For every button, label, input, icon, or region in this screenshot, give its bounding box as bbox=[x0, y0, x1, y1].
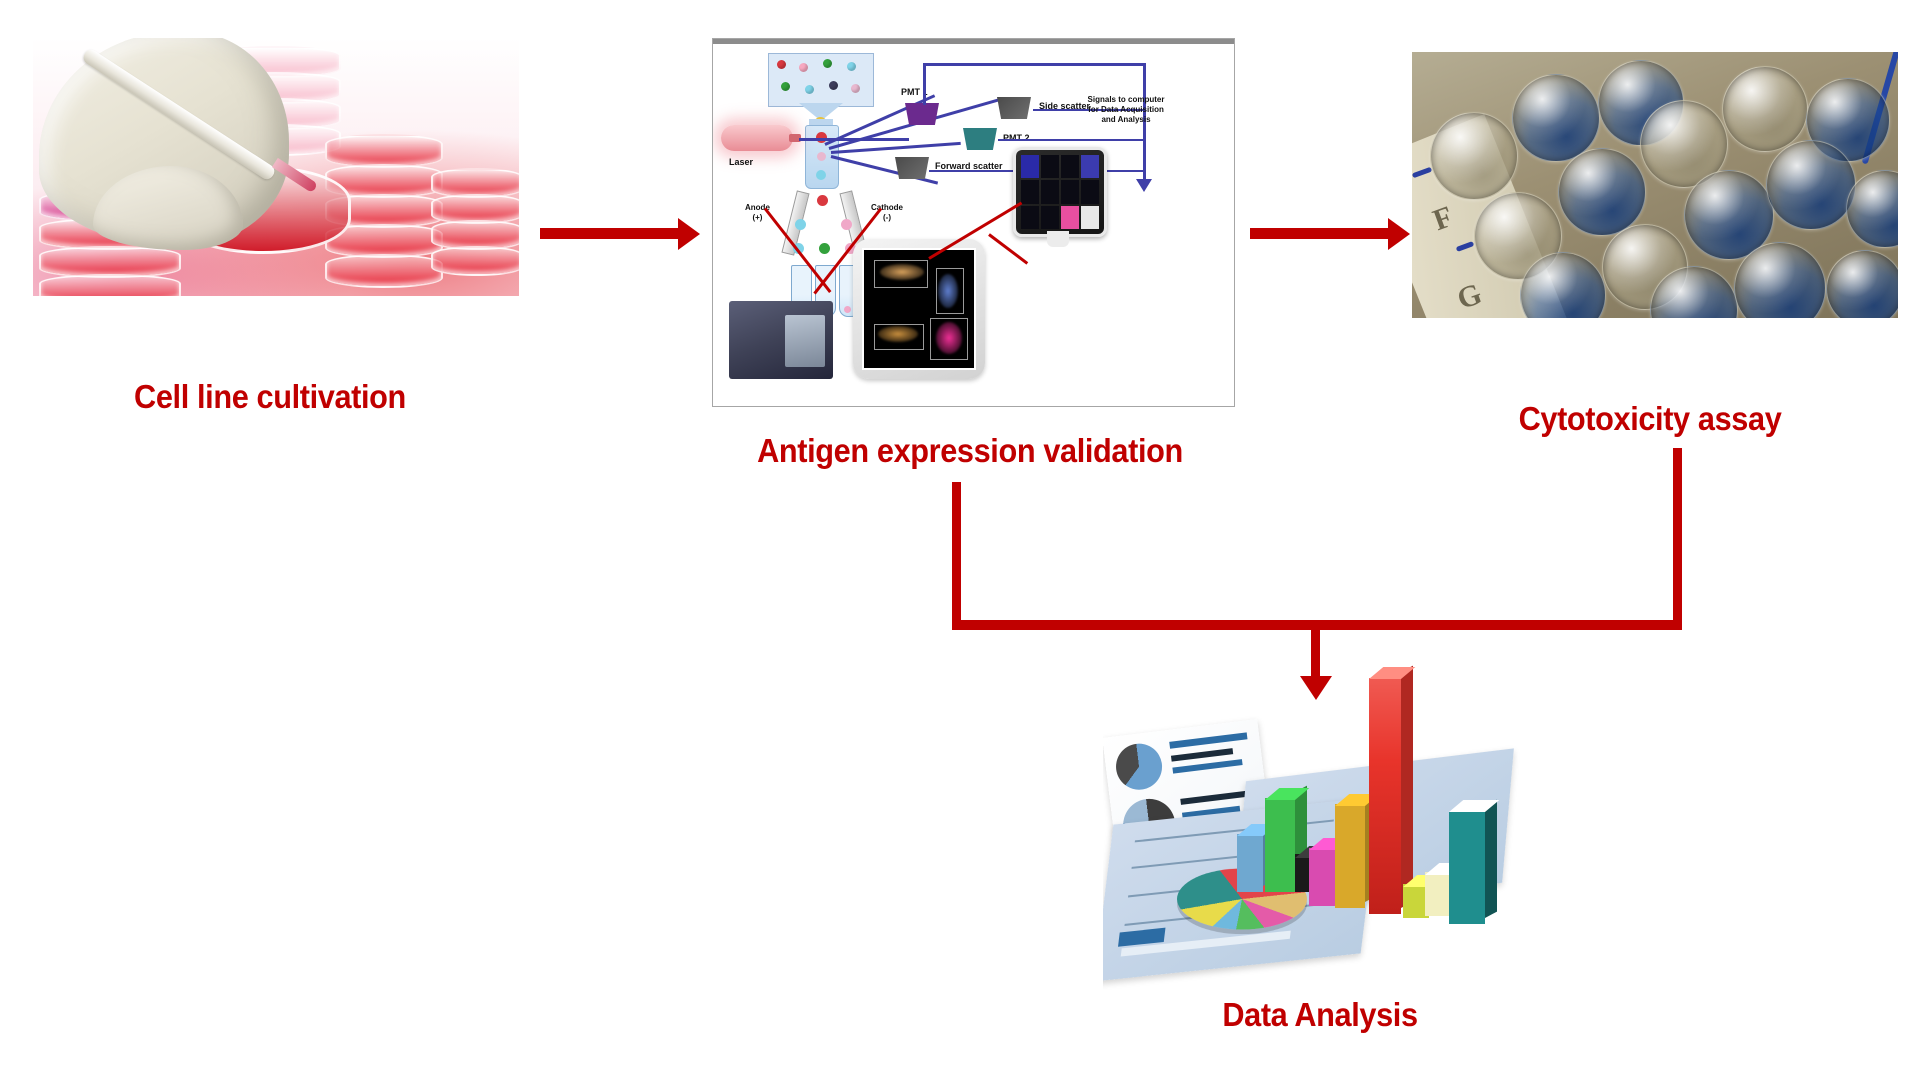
antigen-expression-validation-image: Laser PMT 1 PMT 2 Side scatter Forward s… bbox=[712, 38, 1235, 407]
bar-5 bbox=[1335, 804, 1365, 908]
bar-8 bbox=[1425, 872, 1449, 916]
bar-9 bbox=[1449, 812, 1485, 924]
data-analysis-image bbox=[1103, 662, 1537, 990]
caption-cytotoxicity-assay: Cytotoxicity assay bbox=[1436, 400, 1864, 438]
tablet-stand bbox=[1047, 231, 1069, 247]
label-cathode-charge: (-) bbox=[883, 213, 891, 222]
arrow-down-to-data-analysis bbox=[1311, 620, 1320, 678]
signal-drop-pmt1 bbox=[923, 63, 926, 105]
connector-down-from-antigen bbox=[952, 482, 961, 628]
cytotoxicity-assay-image: F G bbox=[1412, 52, 1898, 318]
sorted-droplet-3 bbox=[841, 219, 852, 230]
cell-line-cultivation-image bbox=[33, 38, 519, 296]
well bbox=[1722, 66, 1808, 152]
signal-bus-top bbox=[923, 63, 1145, 66]
label-laser: Laser bbox=[729, 157, 753, 168]
tablet-readout bbox=[1013, 147, 1107, 237]
well bbox=[1558, 148, 1646, 236]
well bbox=[1734, 242, 1826, 318]
well bbox=[1430, 112, 1518, 200]
caption-antigen-expression-validation: Antigen expression validation bbox=[710, 432, 1231, 470]
caption-data-analysis: Data Analysis bbox=[1115, 996, 1524, 1034]
pmt1-detector bbox=[905, 103, 939, 125]
arrow-cellline-to-antigen bbox=[540, 228, 680, 239]
petri-dish-stack-far-right bbox=[431, 168, 519, 296]
caption-cell-line-cultivation: Cell line cultivation bbox=[56, 378, 484, 416]
forward-scatter-detector bbox=[895, 157, 929, 179]
well bbox=[1512, 74, 1600, 162]
sorted-droplet-5 bbox=[819, 243, 830, 254]
bar-4 bbox=[1309, 848, 1337, 906]
connector-down-from-cytotox bbox=[1673, 448, 1682, 628]
bar-2 bbox=[1265, 798, 1295, 892]
pointer-line-screen-to-tablet bbox=[988, 233, 1028, 264]
signal-arrowhead bbox=[1136, 179, 1152, 192]
bar-1 bbox=[1237, 834, 1263, 892]
flow-cytometer-instrument bbox=[729, 301, 833, 379]
sorted-droplet-2 bbox=[795, 219, 806, 230]
label-anode-charge: (+) bbox=[752, 213, 762, 222]
laser-source bbox=[721, 125, 793, 151]
sample-reservoir bbox=[768, 53, 874, 107]
sorted-droplet-1 bbox=[817, 195, 828, 206]
side-scatter-detector bbox=[997, 97, 1031, 119]
label-signals-to-computer: Signals to computer for Data Acquisition… bbox=[1083, 95, 1169, 125]
pmt2-detector bbox=[963, 128, 997, 150]
scatter-plot-display bbox=[853, 239, 985, 379]
well bbox=[1766, 140, 1856, 230]
bar-6-highlight bbox=[1369, 678, 1401, 914]
arrow-antigen-to-cytotox bbox=[1250, 228, 1390, 239]
well bbox=[1826, 250, 1898, 318]
workflow-diagram: Cell line cultivation Laser bbox=[0, 0, 1925, 1080]
signal-pmt2 bbox=[998, 139, 1145, 141]
